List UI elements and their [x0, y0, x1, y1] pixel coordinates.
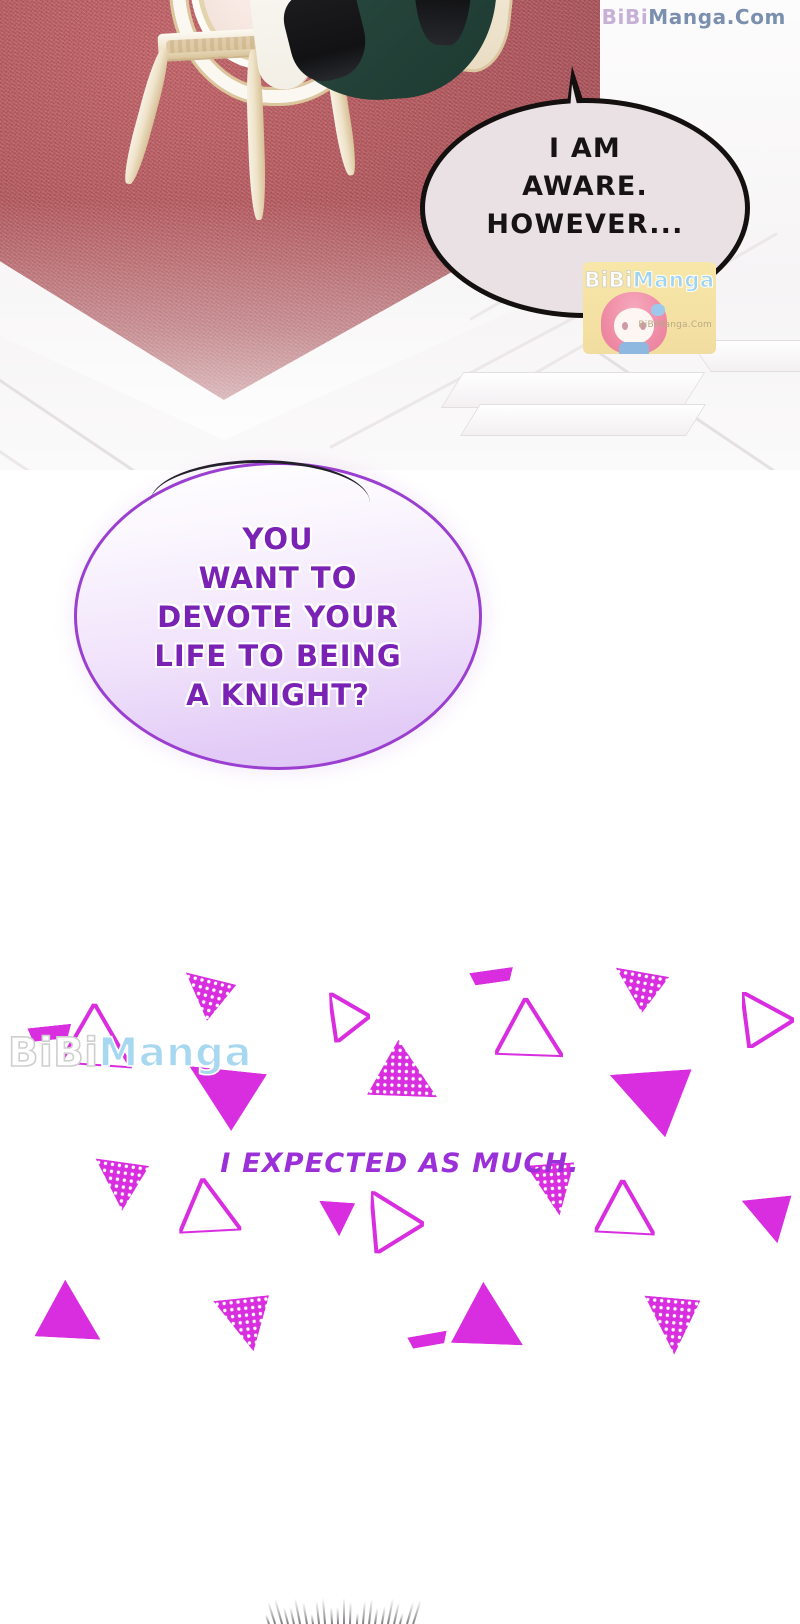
decorative-triangle: [367, 1039, 439, 1097]
triangle-shape: [213, 1295, 274, 1355]
triangle-shape: [177, 1176, 242, 1233]
hair-strand: [400, 1613, 405, 1624]
decorative-triangle: [742, 1196, 797, 1247]
decorative-triangle: [469, 967, 514, 986]
hair-strand: [302, 1602, 308, 1624]
badge-title: BiBiManga: [583, 268, 716, 292]
triangle-shape: [176, 972, 237, 1025]
decorative-triangle: [317, 1201, 355, 1237]
triangle-shape: [369, 1191, 425, 1255]
hair-strand: [265, 1614, 270, 1624]
decorative-triangle: [407, 1331, 448, 1350]
watermark-top-manga: Manga.Com: [648, 5, 786, 29]
triangle-shape: [742, 992, 794, 1048]
hair-strand: [356, 1613, 359, 1624]
floor-step: [460, 404, 706, 436]
decorative-triangle: [213, 1295, 274, 1355]
decorative-triangle: [177, 1176, 242, 1233]
speech-bubble-2-text: YOU WANT TO DEVOTE YOUR LIFE TO BEING A …: [74, 520, 482, 715]
hair-strand: [362, 1601, 366, 1624]
hair-strand: [283, 1607, 289, 1624]
hair-strand: [294, 1599, 301, 1624]
decorative-triangle: [35, 1278, 104, 1339]
hair-strand: [322, 1598, 326, 1624]
triangle-shape: [367, 1039, 439, 1097]
decorative-triangle: [451, 1281, 525, 1345]
speech-bubble-1-text: I AM AWARE. HOWEVER...: [420, 130, 750, 244]
hair-strands-next-panel: [0, 1584, 800, 1624]
watermark-top-bibi: BiBi: [602, 5, 649, 29]
hair-strand: [316, 1601, 321, 1624]
hair-strand: [330, 1607, 333, 1624]
badge-url-text: BiBiManga.Com: [638, 320, 712, 330]
triangle-shape: [183, 1066, 267, 1134]
decorative-triangle: [610, 1069, 696, 1141]
chair-leg: [120, 47, 173, 186]
decorative-triangle: [329, 991, 371, 1042]
bibimanga-badge: BiBiManga BiBiManga.Com: [583, 262, 716, 354]
triangle-shape: [742, 1196, 797, 1247]
decorative-triangle: [595, 1178, 658, 1235]
decorative-triangle: [495, 997, 565, 1057]
hair-strand: [374, 1608, 378, 1624]
decorative-triangle: [183, 1066, 267, 1134]
floor-step: [441, 372, 705, 408]
narration-caption: I EXPECTED AS MUCH.: [0, 1148, 800, 1179]
watermark-top-right: BiBiManga.Com: [602, 5, 786, 29]
watermark-low-manga: Manga: [98, 1030, 251, 1076]
triangle-shape: [35, 1278, 104, 1339]
triangle-shape: [317, 1201, 355, 1237]
hair-strand: [336, 1607, 338, 1624]
hair-strand: [368, 1599, 373, 1624]
triangle-shape: [609, 968, 669, 1017]
badge-title-bibi: BiBi: [584, 268, 632, 292]
triangle-shape: [451, 1281, 525, 1345]
decorative-triangle: [176, 972, 237, 1025]
mascot-eye-left: [622, 322, 628, 330]
decorative-triangle: [609, 968, 669, 1017]
decorative-triangle: [640, 1296, 701, 1357]
mascot-hair-bow: [651, 304, 665, 316]
decorative-triangle: [369, 1191, 425, 1255]
hair-strand: [343, 1598, 345, 1624]
badge-title-manga: Manga: [633, 268, 715, 292]
webtoon-page: BiBiManga.Com I AM AWARE. HOWEVER... BiB…: [0, 0, 800, 1624]
hair-strand: [310, 1614, 313, 1624]
triangle-shape: [329, 991, 371, 1042]
triangle-shape: [595, 1178, 658, 1235]
triangle-shape: [640, 1296, 701, 1357]
watermark-low-bibi: BiBi: [8, 1030, 98, 1076]
hair-strand: [289, 1607, 295, 1624]
watermark-lower-left: BiBiManga: [8, 1030, 252, 1076]
triangle-shape: [610, 1069, 696, 1141]
mascot-dress: [619, 342, 649, 354]
triangle-shape: [495, 997, 565, 1057]
hair-strand: [381, 1607, 386, 1624]
hair-strand: [349, 1602, 352, 1624]
decorative-triangle: [742, 992, 794, 1048]
